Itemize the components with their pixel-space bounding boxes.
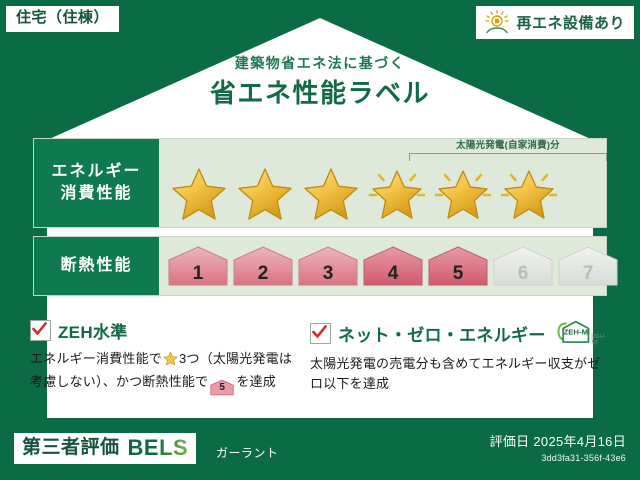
sun-icon — [483, 9, 511, 35]
title-block: 建築物省エネ法に基づく 省エネ性能ラベル — [0, 55, 640, 109]
grade-badge-6-value: 6 — [518, 264, 529, 287]
criterion-zeh: ZEH水準 エネルギー消費性能で3つ（太陽光発電は考慮しない）、かつ断熱性能で5… — [30, 318, 300, 396]
row-insulation-body: 1 2 3 4 — [159, 237, 619, 295]
grade-badge-5-value: 5 — [453, 264, 464, 287]
svg-text:ZEH-M: ZEH-M — [563, 327, 587, 336]
grade-badge-4: 4 — [362, 245, 424, 287]
inline-grade-badge: 5 — [210, 379, 234, 396]
grade-badge-6: 6 — [492, 245, 554, 287]
criterion-zeh-title: ZEH水準 — [58, 318, 128, 343]
criterion-net-zero-checkbox[interactable] — [310, 323, 331, 344]
row-insulation-label-line1: 断熱性能 — [60, 255, 132, 277]
criteria-section: ZEH水準 エネルギー消費性能で3つ（太陽光発電は考慮しない）、かつ断熱性能で5… — [30, 318, 610, 396]
criterion-zeh-checkbox[interactable] — [30, 320, 51, 341]
row-energy-body: 太陽光発電(自家消費)分 — [159, 139, 606, 227]
check-icon — [32, 322, 47, 337]
criterion-net-zero: ネット・ゼロ・エネルギー ZEH-M [ZEH-M] 太陽光発電の売電分も含めて… — [310, 318, 610, 396]
grade-badge-5: 5 — [427, 245, 489, 287]
row-energy-label: エネルギー 消費性能 — [34, 139, 159, 227]
grade-badge-7-value: 7 — [583, 264, 594, 287]
grade-badge-4-value: 4 — [388, 264, 399, 287]
criterion-zeh-desc-c: を達成 — [236, 374, 276, 389]
criterion-net-zero-desc-a: 太陽光発電の売電分も含めてエネルギー収支がゼロ以下を達成 — [310, 356, 600, 391]
renewable-badge-label: 再エネ設備あり — [516, 12, 625, 33]
footer-right: 評価日 2025年4月16日 3dd3fa31-356f-43e6 — [490, 434, 626, 463]
title-subtitle: 建築物省エネ法に基づく — [0, 55, 640, 72]
title-main: 省エネ性能ラベル — [0, 78, 640, 109]
rating-rows: エネルギー 消費性能 太陽光発電(自家消費)分 — [33, 138, 607, 296]
solar-annotation-label: 太陽光発電(自家消費)分 — [409, 141, 607, 151]
grade-badge-2: 2 — [232, 245, 294, 287]
company-name: ガーラント — [216, 444, 279, 461]
footer-bar: 第三者評価 BELS ガーラント 評価日 2025年4月16日 3dd3fa31… — [0, 422, 640, 480]
evaluation-id: 3dd3fa31-356f-43e6 — [490, 453, 626, 463]
criterion-net-zero-description: 太陽光発電の売電分も含めてエネルギー収支がゼロ以下を達成 — [310, 354, 610, 394]
check-icon — [312, 325, 327, 340]
bels-badge: 第三者評価 BELS — [14, 433, 196, 464]
grade-badge-2-value: 2 — [258, 264, 269, 287]
star-2 — [233, 163, 297, 225]
row-energy-label-line1: エネルギー — [51, 161, 141, 183]
row-energy-label-line2: 消費性能 — [60, 183, 132, 205]
category-tag: 住宅（住棟） — [6, 6, 119, 32]
bels-mark: BELS — [128, 436, 189, 460]
renewable-equipment-badge: 再エネ設備あり — [476, 6, 634, 39]
row-energy-performance: エネルギー 消費性能 太陽光発電(自家消費)分 — [33, 138, 607, 228]
evaluation-date: 評価日 2025年4月16日 — [490, 434, 626, 450]
bels-third-party-label: 第三者評価 — [22, 438, 120, 459]
row-insulation-performance: 断熱性能 — [33, 236, 607, 296]
energy-label-root: 住宅（住棟） 再エネ設備あり 建築物省エネ法に基づく — [0, 0, 640, 480]
row-insulation-label: 断熱性能 — [34, 237, 159, 295]
inline-star-icon — [163, 354, 178, 369]
zeh-m-logo: ZEH-M [ZEH-M] — [554, 318, 610, 348]
star-3 — [299, 163, 363, 225]
star-6-solar — [497, 163, 561, 225]
solar-annotation-bracket — [409, 153, 607, 161]
criterion-zeh-head: ZEH水準 — [30, 318, 300, 343]
zeh-m-logo-caption: [ZEH-M] — [591, 334, 610, 346]
grade-badge-3: 3 — [297, 245, 359, 287]
energy-star-rating — [167, 163, 561, 225]
inline-grade-badge-value: 5 — [210, 379, 234, 393]
criterion-zeh-desc-a: エネルギー消費性能で — [30, 351, 162, 366]
star-1 — [167, 163, 231, 225]
star-5-solar — [431, 163, 495, 225]
grade-badge-1-value: 1 — [193, 264, 204, 287]
criterion-net-zero-title: ネット・ゼロ・エネルギー — [338, 321, 546, 346]
criterion-zeh-description: エネルギー消費性能で3つ（太陽光発電は考慮しない）、かつ断熱性能で5を達成 — [30, 349, 300, 396]
grade-badge-7: 7 — [557, 245, 619, 287]
grade-badge-1: 1 — [167, 245, 229, 287]
grade-badge-3-value: 3 — [323, 264, 334, 287]
criterion-net-zero-head: ネット・ゼロ・エネルギー ZEH-M [ZEH-M] — [310, 318, 610, 348]
star-4-solar — [365, 163, 429, 225]
solar-annotation: 太陽光発電(自家消費)分 — [409, 141, 607, 161]
